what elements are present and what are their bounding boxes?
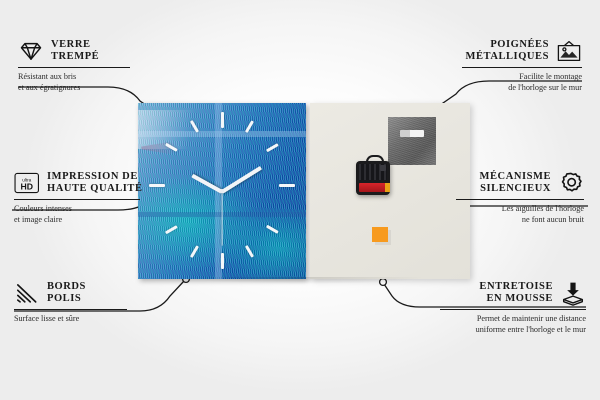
callout-title: BORDS POLIS [47,281,86,306]
callout-description: Les aiguilles de l'horloge ne font aucun… [456,204,584,225]
callout-divider [14,199,140,200]
callout-title: ENTRETOISE EN MOUSSE [479,281,553,306]
clock-second-hand [221,192,222,246]
clock-tick [221,253,224,269]
press-down-icon [560,280,586,306]
callout-divider [18,67,130,68]
diamond-icon [18,38,44,64]
clock-tick [221,112,224,128]
wall-hanger-icon [556,38,582,64]
clock-back-panel [310,103,470,279]
quartz-movement [356,161,390,195]
callout-divider [440,309,586,310]
battery [359,183,387,192]
callout-header: MÉCANISME SILENCIEUX [456,170,584,196]
callout-description: Permet de maintenir une distance uniform… [440,314,586,335]
callout-title: IMPRESSION DE HAUTE QUALITÉ [47,171,143,196]
callout-description: Facilite le montage de l'horloge sur le … [462,72,582,93]
callout-header: ultra HD IMPRESSION DE HAUTE QUALITÉ [14,170,146,196]
product-drop-shadow [138,277,470,287]
clock-tick [266,143,279,152]
clock-tick [266,225,279,234]
clock-tick [245,245,254,258]
callout-divider [462,67,582,68]
callout-title: POIGNÉES MÉTALLIQUES [466,39,549,64]
callout-divider [456,199,584,200]
callout-title: MÉCANISME SILENCIEUX [480,171,551,196]
polished-edge-icon [14,280,40,306]
callout-entretoise-en-mousse: ENTRETOISE EN MOUSSE Permet de maintenir… [440,280,586,335]
clock-front-face [138,103,306,279]
callout-description: Couleurs intenses et image claire [14,204,146,225]
callout-header: VERRE TREMPÉ [18,38,138,64]
hanger-slot [400,130,424,137]
callout-divider [14,309,127,310]
callout-description: Surface lisse et sûre [14,314,134,324]
infographic-canvas: VERRE TREMPÉ Résistant aux bris et aux é… [0,0,600,400]
callout-bords-polis: BORDS POLIS Surface lisse et sûre [14,280,134,325]
movement-knob [380,165,386,171]
svg-text:HD: HD [20,181,33,191]
clock-tick [149,184,165,187]
callout-header: BORDS POLIS [14,280,134,306]
product-photo [138,103,470,279]
callout-impression-haute-qualite: ultra HD IMPRESSION DE HAUTE QUALITÉ Cou… [14,170,146,225]
callout-poignees-metalliques: POIGNÉES MÉTALLIQUES Facilite le montage… [462,38,582,93]
clock-center-pin [220,189,224,193]
battery-terminal [385,183,390,192]
callout-header: ENTRETOISE EN MOUSSE [440,280,586,306]
callout-header: POIGNÉES MÉTALLIQUES [462,38,582,64]
clock-minute-hand [221,166,262,194]
clock-tick [165,225,178,234]
clock-tick [190,245,199,258]
foam-spacer [372,227,388,242]
callout-title: VERRE TREMPÉ [51,39,99,64]
clock-tick [279,184,295,187]
callout-verre-trempe: VERRE TREMPÉ Résistant aux bris et aux é… [18,38,138,93]
metal-hanger-plate [388,117,436,165]
ultra-hd-icon: ultra HD [14,170,40,196]
gear-icon [558,170,584,196]
callout-description: Résistant aux bris et aux égratignures [18,72,138,93]
callout-mecanisme-silencieux: MÉCANISME SILENCIEUX Les aiguilles de l'… [456,170,584,225]
glass-sheen [138,110,212,149]
